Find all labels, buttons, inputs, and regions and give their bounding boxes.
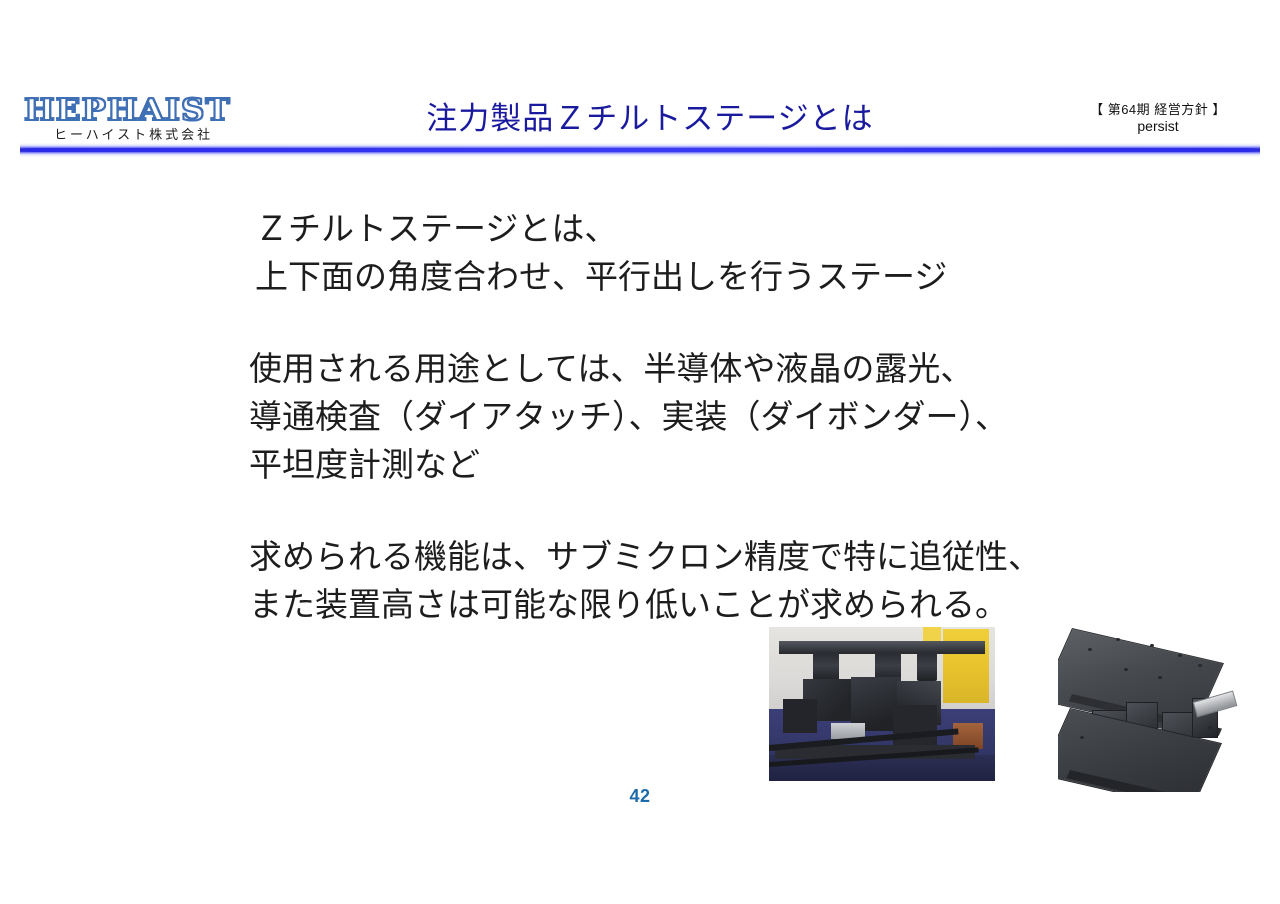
text-line: Ｚチルトステージとは、	[255, 205, 1209, 253]
cad-mounting-hole	[1124, 668, 1128, 671]
cad-mounting-hole	[1208, 726, 1212, 729]
cad-mounting-hole	[1178, 654, 1182, 657]
body-content: Ｚチルトステージとは、 上下面の角度合わせ、平行出しを行うステージ 使用される用…	[249, 205, 1209, 629]
photo-stage-block	[783, 699, 817, 733]
paragraph-definition: Ｚチルトステージとは、 上下面の角度合わせ、平行出しを行うステージ	[255, 205, 1209, 301]
photo-z-tilt-stage	[769, 627, 995, 781]
page-number: 42	[0, 786, 1280, 807]
photo-stage-column	[917, 653, 937, 681]
header-divider	[20, 143, 1260, 157]
text-line: 導通検査（ダイアタッチ）、実装（ダイボンダー）、	[249, 393, 1209, 441]
cad-mounting-hole	[1150, 644, 1154, 647]
cad-z-tilt-stage	[1058, 624, 1244, 792]
slide-canvas: HEPHAIST ヒーハイスト株式会社 注力製品Ｚチルトステージとは 【 第64…	[0, 0, 1280, 904]
paragraph-applications: 使用される用途としては、半導体や液晶の露光、 導通検査（ダイアタッチ）、実装（ダ…	[249, 345, 1209, 489]
cad-mounting-hole	[1158, 676, 1162, 679]
paragraph-requirements: 求められる機能は、サブミクロン精度で特に追従性、 また装置高さは可能な限り低いこ…	[249, 533, 1209, 629]
cad-mounting-hole	[1116, 638, 1120, 641]
logo-company-name: ヒーハイスト株式会社	[54, 127, 264, 143]
text-line: また装置高さは可能な限り低いことが求められる。	[249, 581, 1209, 629]
company-logo: HEPHAIST ヒーハイスト株式会社	[24, 96, 264, 148]
text-line: 使用される用途としては、半導体や液晶の露光、	[249, 345, 1209, 393]
text-line: 求められる機能は、サブミクロン精度で特に追従性、	[249, 533, 1209, 581]
fiscal-term-label: 【 第64期 経営方針 】	[1058, 101, 1258, 118]
slide-header: HEPHAIST ヒーハイスト株式会社 注力製品Ｚチルトステージとは 【 第64…	[0, 0, 1280, 160]
text-line: 上下面の角度合わせ、平行出しを行うステージ	[255, 253, 1209, 301]
text-line: 平坦度計測など	[249, 441, 1209, 489]
cad-mounting-hole	[1088, 648, 1092, 651]
page-title: 注力製品Ｚチルトステージとは	[300, 100, 1000, 138]
cad-mounting-hole	[1198, 664, 1202, 667]
cad-mounting-hole	[1080, 736, 1084, 739]
slogan-label: persist	[1058, 118, 1258, 135]
header-meta: 【 第64期 経営方針 】 persist	[1058, 101, 1258, 135]
logo-wordmark: HEPHAIST	[24, 96, 283, 126]
photo-stage-column	[813, 653, 839, 681]
